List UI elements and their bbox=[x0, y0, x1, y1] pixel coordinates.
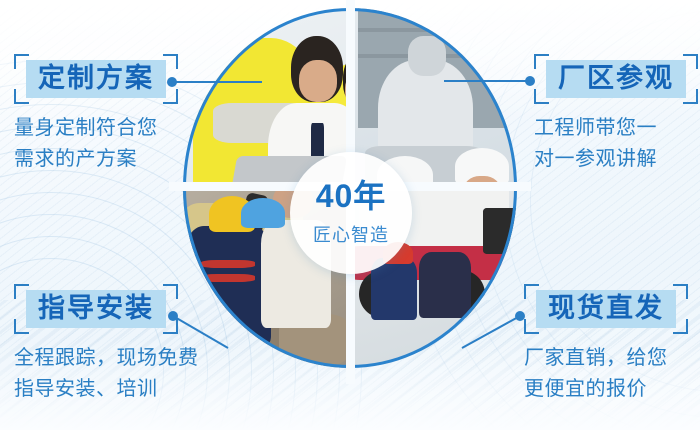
callout-factory-tour[interactable]: 厂区参观 工程师带您一 对一参观讲解 bbox=[534, 54, 698, 175]
corner-bracket-br-icon bbox=[163, 89, 178, 104]
corner-bracket-bl-icon bbox=[524, 319, 539, 334]
corner-bracket-tl-icon bbox=[534, 54, 549, 69]
callout-title-highlight: 定制方案 bbox=[26, 60, 166, 98]
corner-bracket-bl-icon bbox=[14, 89, 29, 104]
callout-title-frame: 定制方案 bbox=[14, 54, 178, 104]
callout-title-highlight: 现货直发 bbox=[536, 290, 676, 328]
callout-description-line: 对一参观讲解 bbox=[534, 144, 698, 175]
corner-bracket-tr-icon bbox=[163, 54, 178, 69]
callout-description-line: 量身定制符合您 bbox=[14, 113, 178, 144]
callout-title-frame: 厂区参观 bbox=[534, 54, 698, 104]
corner-bracket-tr-icon bbox=[683, 54, 698, 69]
callout-description: 量身定制符合您 需求的产方案 bbox=[14, 113, 178, 175]
callout-description: 工程师带您一 对一参观讲解 bbox=[534, 113, 698, 175]
callout-description-line: 工程师带您一 bbox=[534, 113, 698, 144]
callout-description-line: 全程跟踪，现场免费 bbox=[14, 343, 199, 374]
corner-bracket-br-icon bbox=[683, 89, 698, 104]
callout-title-highlight: 指导安装 bbox=[26, 290, 166, 328]
callout-title-text: 现货直发 bbox=[548, 293, 664, 323]
corner-bracket-bl-icon bbox=[534, 89, 549, 104]
callout-title-text: 定制方案 bbox=[38, 63, 154, 93]
callout-description: 全程跟踪，现场免费 指导安装、培训 bbox=[14, 343, 199, 405]
callout-description-line: 厂家直销，给您 bbox=[524, 343, 688, 374]
callout-in-stock-shipping[interactable]: 现货直发 厂家直销，给您 更便宜的报价 bbox=[524, 284, 688, 405]
callout-title-text: 指导安装 bbox=[38, 293, 154, 323]
center-badge: 40年 匠心智造 bbox=[290, 152, 412, 274]
callout-title-text: 厂区参观 bbox=[558, 63, 674, 93]
badge-subline: 匠心智造 bbox=[313, 221, 389, 247]
callout-installation-guidance[interactable]: 指导安装 全程跟踪，现场免费 指导安装、培训 bbox=[14, 284, 199, 405]
corner-bracket-br-icon bbox=[163, 319, 178, 334]
corner-bracket-br-icon bbox=[673, 319, 688, 334]
corner-bracket-tr-icon bbox=[163, 284, 178, 299]
callout-description-line: 指导安装、培训 bbox=[14, 374, 199, 405]
callout-description-line: 更便宜的报价 bbox=[524, 374, 688, 405]
badge-headline: 40年 bbox=[316, 180, 387, 212]
corner-bracket-tr-icon bbox=[673, 284, 688, 299]
callout-description-line: 需求的产方案 bbox=[14, 144, 178, 175]
callout-title-highlight: 厂区参观 bbox=[546, 60, 686, 98]
corner-bracket-tl-icon bbox=[14, 54, 29, 69]
corner-bracket-tl-icon bbox=[524, 284, 539, 299]
callout-custom-solution[interactable]: 定制方案 量身定制符合您 需求的产方案 bbox=[14, 54, 178, 175]
corner-bracket-tl-icon bbox=[14, 284, 29, 299]
corner-bracket-bl-icon bbox=[14, 319, 29, 334]
promo-banner: 40年 匠心智造 定制方案 量身定制符合您 需求的产方案 厂区参观 bbox=[0, 0, 700, 430]
callout-title-frame: 指导安装 bbox=[14, 284, 178, 334]
callout-title-frame: 现货直发 bbox=[524, 284, 688, 334]
callout-description: 厂家直销，给您 更便宜的报价 bbox=[524, 343, 688, 405]
